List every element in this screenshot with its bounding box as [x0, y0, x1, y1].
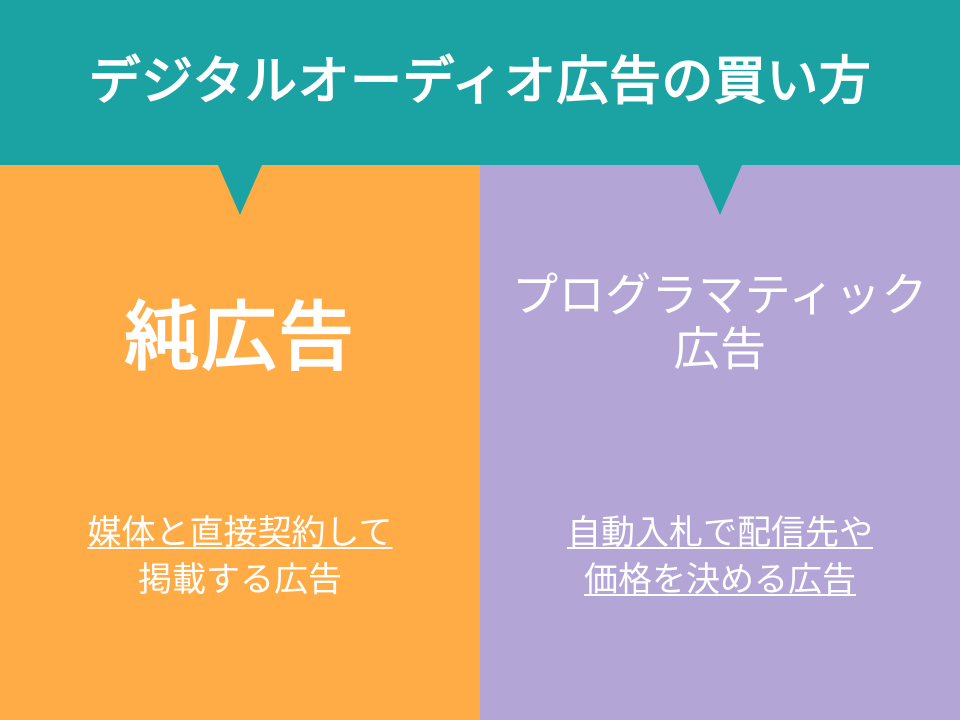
- page-title: デジタルオーディオ広告の買い方: [77, 54, 884, 111]
- panel-caption-pure-ad: 媒体と直接契約して 掲載する広告: [0, 510, 480, 604]
- caption-line: 価格を決める広告: [492, 557, 948, 604]
- panel-caption-programmatic-ad: 自動入札で配信先や 価格を決める広告: [480, 510, 960, 604]
- caption-line: 媒体と直接契約して: [12, 510, 468, 557]
- panel-heading-pure-ad: 純広告: [0, 293, 480, 382]
- caption-line: 自動入札で配信先や: [492, 510, 948, 557]
- panel-heading-programmatic-ad: プログラマティック広告: [480, 268, 960, 377]
- panel-programmatic-ad: プログラマティック広告 自動入札で配信先や 価格を決める広告: [480, 165, 960, 720]
- arrow-down-icon: [698, 165, 742, 215]
- arrow-down-icon: [218, 165, 262, 215]
- caption-line: 掲載する広告: [12, 557, 468, 604]
- panel-pure-ad: 純広告 媒体と直接契約して 掲載する広告: [0, 165, 480, 720]
- comparison-panels: 純広告 媒体と直接契約して 掲載する広告 プログラマティック広告 自動入札で配信…: [0, 165, 960, 720]
- header-band: デジタルオーディオ広告の買い方: [0, 0, 960, 165]
- slide-canvas: デジタルオーディオ広告の買い方 純広告 媒体と直接契約して 掲載する広告 プログ…: [0, 0, 960, 720]
